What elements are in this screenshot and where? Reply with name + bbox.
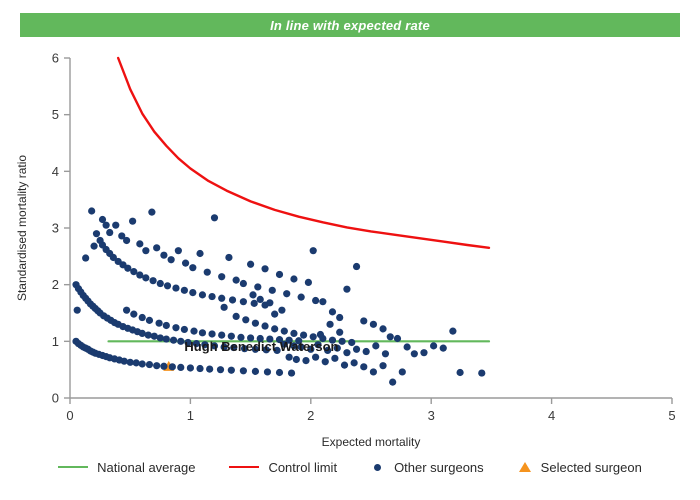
other-surgeon-point[interactable]	[206, 366, 213, 373]
other-surgeon-point[interactable]	[317, 331, 324, 338]
other-surgeon-point[interactable]	[310, 247, 317, 254]
other-surgeon-point[interactable]	[145, 332, 152, 339]
x-tick-label: 2	[307, 408, 314, 423]
dot-icon	[371, 460, 385, 474]
other-surgeon-point[interactable]	[164, 282, 171, 289]
other-surgeon-point[interactable]	[336, 314, 343, 321]
other-surgeon-point[interactable]	[217, 366, 224, 373]
other-surgeon-point[interactable]	[379, 325, 386, 332]
other-surgeon-point[interactable]	[298, 294, 305, 301]
other-surgeon-point[interactable]	[146, 317, 153, 324]
other-surgeon-point[interactable]	[163, 335, 170, 342]
other-surgeon-point[interactable]	[319, 298, 326, 305]
x-tick-label: 4	[548, 408, 555, 423]
other-surgeon-point[interactable]	[283, 290, 290, 297]
plot-svg: 0123456012345 Hugh Benedict Waterson Exp…	[0, 40, 700, 450]
other-surgeon-point[interactable]	[142, 274, 149, 281]
other-surgeon-point[interactable]	[351, 359, 358, 366]
other-surgeon-point[interactable]	[74, 307, 81, 314]
other-surgeon-point[interactable]	[233, 313, 240, 320]
other-surgeon-point[interactable]	[225, 254, 232, 261]
triangle-icon	[518, 460, 532, 474]
other-surgeon-point[interactable]	[389, 379, 396, 386]
other-surgeon-point[interactable]	[156, 320, 163, 327]
other-surgeon-point[interactable]	[221, 304, 228, 311]
other-surgeon-point[interactable]	[211, 214, 218, 221]
series-line-control-limit	[118, 58, 489, 248]
other-surgeon-point[interactable]	[261, 322, 268, 329]
other-surgeon-point[interactable]	[370, 368, 377, 375]
other-surgeon-point[interactable]	[252, 320, 259, 327]
other-surgeon-point[interactable]	[339, 338, 346, 345]
other-surgeon-point[interactable]	[177, 338, 184, 345]
other-surgeon-point[interactable]	[153, 362, 160, 369]
other-surgeon-point[interactable]	[399, 368, 406, 375]
other-surgeon-point[interactable]	[254, 283, 261, 290]
legend-item-label: Other surgeons	[394, 460, 484, 475]
y-tick-label: 4	[52, 164, 59, 179]
other-surgeon-point[interactable]	[182, 260, 189, 267]
other-surgeon-point[interactable]	[251, 300, 258, 307]
other-surgeon-point[interactable]	[123, 307, 130, 314]
legend-item-label: Selected surgeon	[541, 460, 642, 475]
other-surgeon-point[interactable]	[269, 287, 276, 294]
legend-item-control-limit[interactable]: Control limit	[229, 460, 337, 475]
other-surgeon-point[interactable]	[208, 330, 215, 337]
other-surgeon-point[interactable]	[411, 350, 418, 357]
series-layer	[72, 58, 489, 386]
funnel-plot-chart: 0123456012345 Hugh Benedict Waterson Exp…	[0, 40, 700, 450]
other-surgeon-point[interactable]	[288, 369, 295, 376]
legend-item-national-average[interactable]: National average	[58, 460, 195, 475]
other-surgeon-point[interactable]	[247, 261, 254, 268]
chart-legend: National averageControl limitOther surge…	[0, 452, 700, 482]
other-surgeon-point[interactable]	[382, 350, 389, 357]
other-surgeon-point[interactable]	[218, 273, 225, 280]
other-surgeon-point[interactable]	[153, 244, 160, 251]
other-surgeon-point[interactable]	[123, 237, 130, 244]
status-banner: In line with expected rate	[20, 13, 680, 37]
other-surgeon-point[interactable]	[157, 334, 164, 341]
other-surgeon-point[interactable]	[106, 229, 113, 236]
status-banner-text: In line with expected rate	[270, 18, 430, 33]
x-tick-label: 5	[668, 408, 675, 423]
other-surgeon-point[interactable]	[387, 333, 394, 340]
y-tick-label: 0	[52, 391, 59, 406]
other-surgeon-point[interactable]	[278, 307, 285, 314]
line-icon	[229, 460, 259, 474]
other-surgeon-point[interactable]	[449, 328, 456, 335]
chart-page: In line with expected rate 0123456012345…	[0, 0, 700, 500]
other-surgeon-point[interactable]	[181, 287, 188, 294]
other-surgeon-point[interactable]	[249, 291, 256, 298]
other-surgeon-point[interactable]	[353, 263, 360, 270]
other-surgeon-point[interactable]	[326, 321, 333, 328]
y-axis-title: Standardised mortality ratio	[15, 155, 29, 301]
other-surgeon-point[interactable]	[103, 222, 110, 229]
other-surgeon-point[interactable]	[360, 363, 367, 370]
other-surgeon-point[interactable]	[218, 295, 225, 302]
other-surgeon-point[interactable]	[177, 364, 184, 371]
x-tick-label: 1	[187, 408, 194, 423]
other-surgeon-point[interactable]	[169, 363, 176, 370]
y-tick-label: 3	[52, 221, 59, 236]
other-surgeon-point[interactable]	[93, 230, 100, 237]
other-surgeon-point[interactable]	[199, 329, 206, 336]
other-surgeon-point[interactable]	[218, 332, 225, 339]
other-surgeon-point[interactable]	[252, 368, 259, 375]
other-surgeon-point[interactable]	[160, 252, 167, 259]
other-surgeon-point[interactable]	[240, 298, 247, 305]
other-surgeon-point[interactable]	[189, 289, 196, 296]
other-surgeon-point[interactable]	[175, 247, 182, 254]
other-surgeon-point[interactable]	[157, 280, 164, 287]
line-icon	[58, 460, 88, 474]
annotation-layer: Hugh Benedict Waterson	[184, 339, 338, 354]
other-surgeon-point[interactable]	[181, 326, 188, 333]
x-axis-title: Expected mortality	[322, 435, 421, 449]
other-surgeon-point[interactable]	[261, 265, 268, 272]
other-surgeon-point[interactable]	[341, 362, 348, 369]
other-surgeon-point[interactable]	[271, 325, 278, 332]
other-surgeon-point[interactable]	[266, 299, 273, 306]
other-surgeon-point[interactable]	[281, 328, 288, 335]
other-surgeon-point[interactable]	[146, 361, 153, 368]
other-surgeon-point[interactable]	[257, 296, 264, 303]
other-surgeon-point[interactable]	[172, 284, 179, 291]
other-surgeon-point[interactable]	[170, 337, 177, 344]
other-surgeon-point[interactable]	[124, 265, 131, 272]
other-surgeon-point[interactable]	[286, 354, 293, 361]
other-surgeon-point[interactable]	[208, 293, 215, 300]
other-surgeon-point[interactable]	[360, 317, 367, 324]
other-surgeon-point[interactable]	[190, 328, 197, 335]
legend-item-label: National average	[97, 460, 195, 475]
other-surgeon-point[interactable]	[199, 291, 206, 298]
y-tick-label: 5	[52, 107, 59, 122]
other-surgeon-point[interactable]	[276, 271, 283, 278]
other-surgeon-point[interactable]	[312, 354, 319, 361]
other-surgeon-point[interactable]	[112, 222, 119, 229]
other-surgeon-point[interactable]	[90, 243, 97, 250]
other-surgeon-point[interactable]	[233, 277, 240, 284]
other-surgeon-point[interactable]	[312, 297, 319, 304]
other-surgeon-point[interactable]	[196, 250, 203, 257]
other-surgeon-point[interactable]	[331, 355, 338, 362]
other-surgeon-point[interactable]	[363, 348, 370, 355]
other-surgeon-point[interactable]	[394, 335, 401, 342]
other-surgeon-point[interactable]	[160, 363, 167, 370]
other-surgeon-point[interactable]	[142, 247, 149, 254]
other-surgeon-point[interactable]	[300, 332, 307, 339]
other-surgeon-point[interactable]	[82, 254, 89, 261]
other-surgeon-point[interactable]	[242, 316, 249, 323]
y-tick-label: 6	[52, 51, 59, 66]
other-surgeon-point[interactable]	[139, 314, 146, 321]
other-surgeon-point[interactable]	[379, 362, 386, 369]
other-surgeon-point[interactable]	[149, 277, 156, 284]
other-surgeon-point[interactable]	[172, 324, 179, 331]
other-surgeon-point[interactable]	[204, 269, 211, 276]
other-surgeon-point[interactable]	[370, 321, 377, 328]
other-surgeon-point[interactable]	[139, 360, 146, 367]
x-tick-label: 0	[66, 408, 73, 423]
other-surgeon-point[interactable]	[430, 342, 437, 349]
other-surgeon-point[interactable]	[88, 207, 95, 214]
other-surgeon-point[interactable]	[457, 369, 464, 376]
other-surgeon-point[interactable]	[136, 240, 143, 247]
other-surgeon-point[interactable]	[187, 364, 194, 371]
other-surgeon-point[interactable]	[290, 275, 297, 282]
other-surgeon-point[interactable]	[133, 359, 140, 366]
legend-item-other-surgeons[interactable]: Other surgeons	[371, 460, 484, 475]
other-surgeon-point[interactable]	[129, 218, 136, 225]
other-surgeon-point[interactable]	[121, 358, 128, 365]
other-surgeon-point[interactable]	[478, 369, 485, 376]
other-surgeon-point[interactable]	[148, 209, 155, 216]
other-surgeon-point[interactable]	[353, 346, 360, 353]
other-surgeon-point[interactable]	[293, 356, 300, 363]
other-surgeon-point[interactable]	[189, 264, 196, 271]
other-surgeon-point[interactable]	[420, 349, 427, 356]
other-surgeon-point[interactable]	[305, 279, 312, 286]
other-surgeon-point[interactable]	[196, 365, 203, 372]
other-surgeon-point[interactable]	[264, 368, 271, 375]
other-surgeon-point[interactable]	[163, 322, 170, 329]
other-surgeon-point[interactable]	[240, 367, 247, 374]
other-surgeon-point[interactable]	[290, 330, 297, 337]
other-surgeon-point[interactable]	[336, 329, 343, 336]
legend-item-label: Control limit	[268, 460, 337, 475]
y-tick-label: 1	[52, 334, 59, 349]
other-surgeon-point[interactable]	[130, 311, 137, 318]
y-tick-label: 2	[52, 277, 59, 292]
x-tick-label: 3	[428, 408, 435, 423]
axis-titles-layer: Expected mortalityStandardised mortality…	[15, 155, 420, 449]
other-surgeon-point[interactable]	[276, 369, 283, 376]
other-surgeon-point[interactable]	[302, 357, 309, 364]
other-surgeon-point[interactable]	[343, 349, 350, 356]
other-surgeon-point[interactable]	[271, 311, 278, 318]
legend-item-selected-surgeon[interactable]: Selected surgeon	[518, 460, 642, 475]
other-surgeon-point[interactable]	[240, 280, 247, 287]
other-surgeon-point[interactable]	[372, 342, 379, 349]
other-surgeon-point[interactable]	[404, 343, 411, 350]
other-surgeon-point[interactable]	[440, 345, 447, 352]
other-surgeon-point[interactable]	[329, 308, 336, 315]
other-surgeon-point[interactable]	[229, 296, 236, 303]
other-surgeon-point[interactable]	[348, 339, 355, 346]
selected-surgeon-label: Hugh Benedict Waterson	[184, 339, 338, 354]
other-surgeon-point[interactable]	[168, 256, 175, 263]
other-surgeon-point[interactable]	[228, 367, 235, 374]
other-surgeon-point[interactable]	[343, 286, 350, 293]
other-surgeon-point[interactable]	[322, 358, 329, 365]
other-surgeon-point[interactable]	[130, 268, 137, 275]
